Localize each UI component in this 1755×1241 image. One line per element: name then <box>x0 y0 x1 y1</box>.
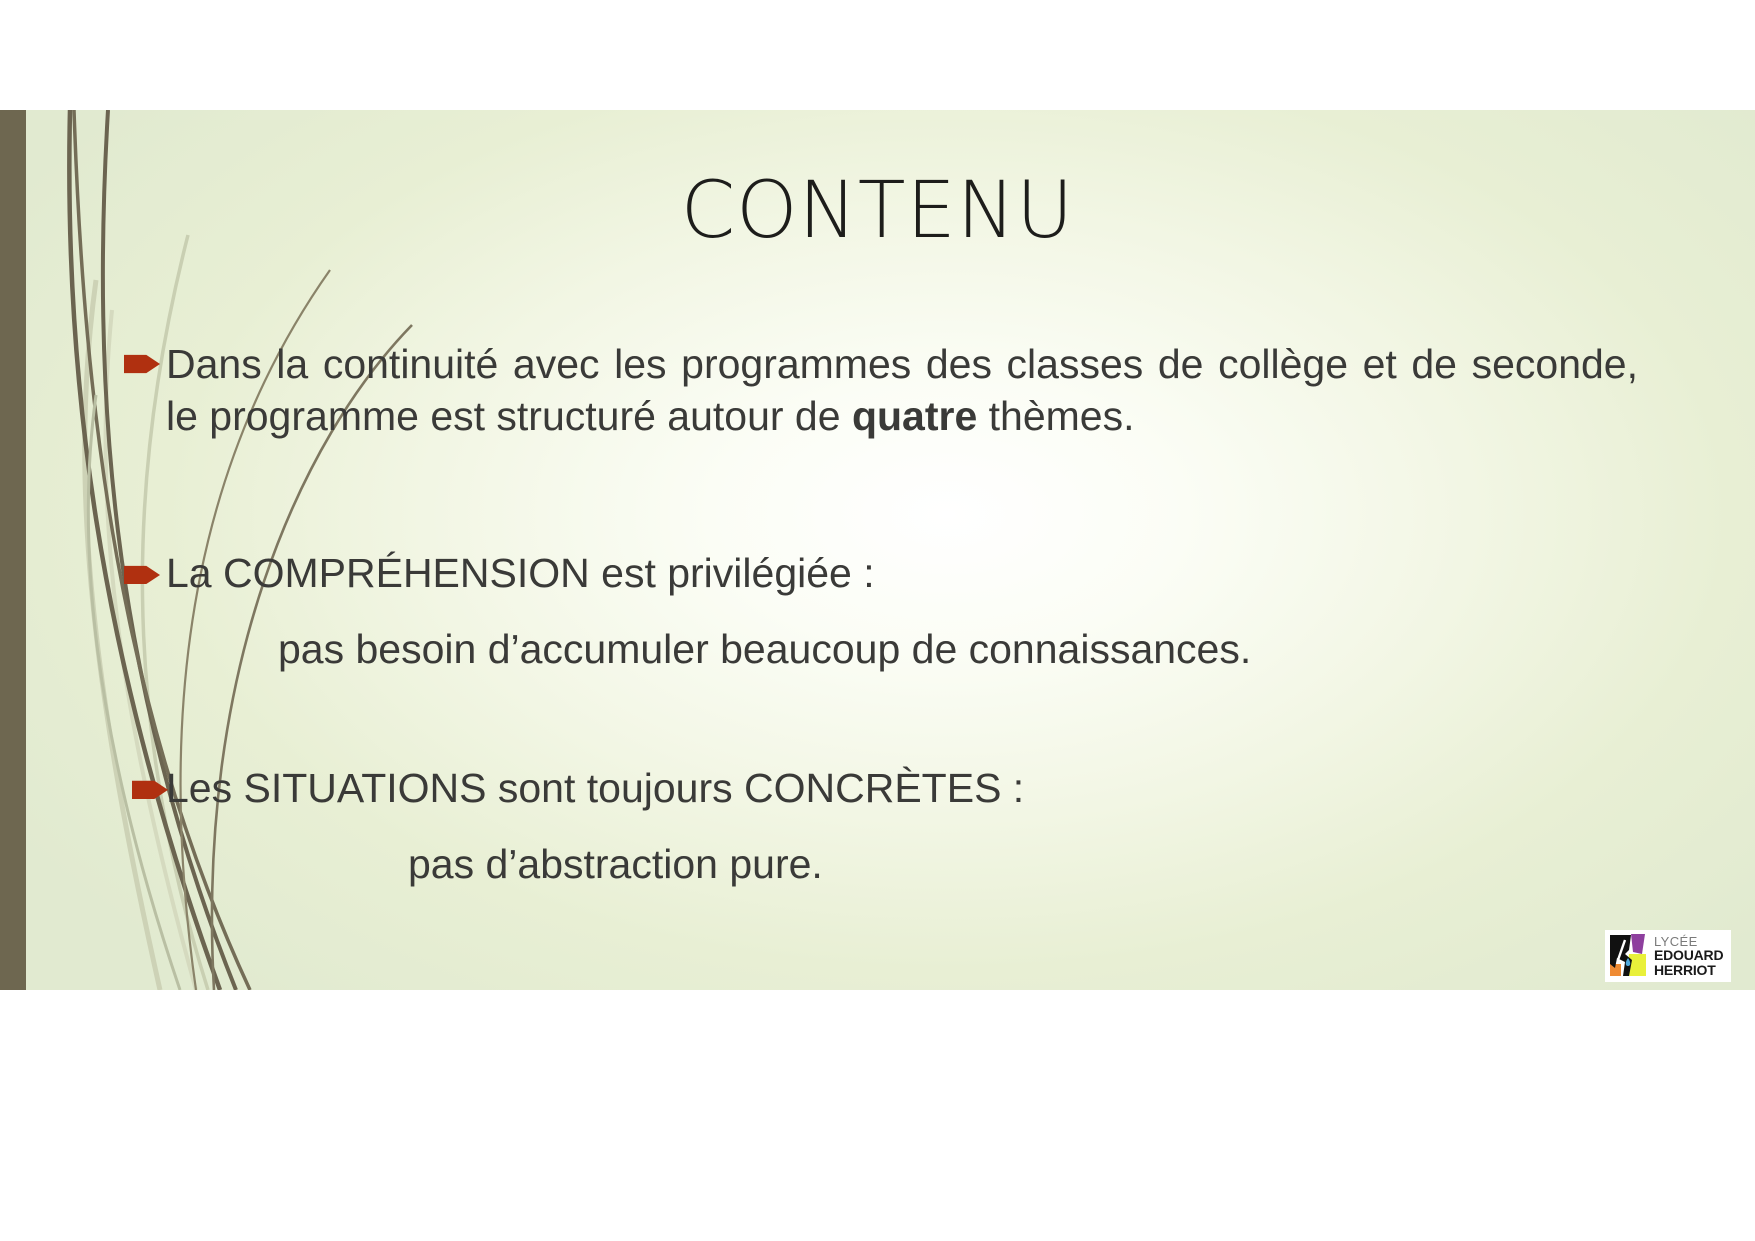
bullet-item-2-subtext: pas besoin d’accumuler beaucoup de conna… <box>118 623 1638 675</box>
slide-body: Dans la continuité avec les programmes d… <box>118 338 1638 891</box>
bullet-item-2-text: La COMPRÉHENSION est privilégiée : <box>166 547 1638 599</box>
spacer-3 <box>118 676 1638 762</box>
spacer-2 <box>118 599 1638 623</box>
spacer-1 <box>118 443 1638 547</box>
red-arrow-bullet-icon <box>132 778 168 802</box>
page-title: CONTENU <box>0 172 1755 250</box>
bullet-1-bold-word: quatre <box>852 393 977 439</box>
logo-mark-icon <box>1605 930 1651 982</box>
bullet-item-2: La COMPRÉHENSION est privilégiée : <box>118 547 1638 599</box>
logo-text: LYCÉE EDOUARD HERRIOT <box>1651 930 1731 982</box>
bullet-item-3: Les SITUATIONS sont toujours CONCRÈTES : <box>118 762 1638 814</box>
school-logo: LYCÉE EDOUARD HERRIOT <box>1605 930 1731 982</box>
bullet-1-text-part-b: thèmes. <box>977 393 1134 439</box>
bullet-item-1: Dans la continuité avec les programmes d… <box>118 338 1638 443</box>
bullet-item-1-text: Dans la continuité avec les programmes d… <box>166 338 1638 443</box>
spacer-4 <box>118 814 1638 838</box>
red-arrow-bullet-icon <box>124 352 160 376</box>
logo-line-herriot: HERRIOT <box>1654 963 1731 977</box>
presentation-slide: CONTENU Dans la continuité avec les prog… <box>0 110 1755 990</box>
bullet-item-3-subtext: pas d’abstraction pure. <box>118 838 1638 890</box>
logo-line-edouard: EDOUARD <box>1654 948 1731 962</box>
slide-page: CONTENU Dans la continuité avec les prog… <box>0 0 1755 1241</box>
red-arrow-bullet-icon <box>124 563 160 587</box>
bullet-item-3-text: Les SITUATIONS sont toujours CONCRÈTES : <box>166 762 1638 814</box>
logo-line-lycee: LYCÉE <box>1654 935 1731 948</box>
